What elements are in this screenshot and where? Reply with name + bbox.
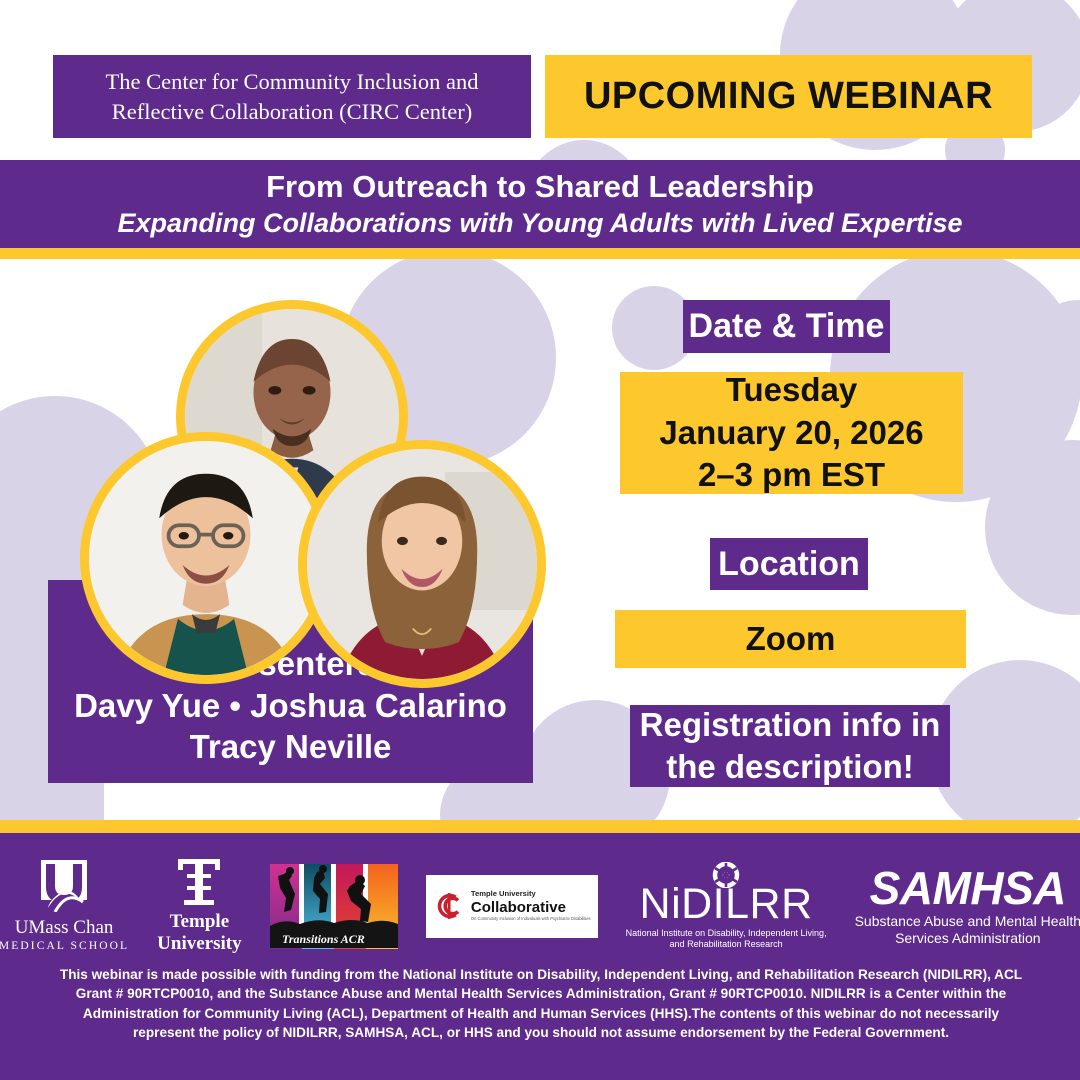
circ-center-name-line1: The Center for Community Inclusion and: [105, 67, 478, 97]
funding-disclaimer: This webinar is made possible with fundi…: [52, 965, 1030, 1042]
webinar-title: From Outreach to Shared Leadership: [266, 169, 814, 205]
temple-collaborative-card: Temple University Collaborative On Commu…: [426, 875, 598, 938]
umass-chan-name: UMass Chan: [15, 917, 114, 939]
nidilrr-wordmark-text: NiDILRR: [640, 884, 813, 925]
samhsa-wordmark: SAMHSA: [870, 865, 1066, 911]
logo-samhsa: SAMHSA Substance Abuse and Mental Health…: [855, 865, 1080, 947]
registration-line1: Registration info in: [640, 704, 941, 746]
temple-collaborative-icon: [433, 886, 465, 926]
upcoming-webinar-label: UPCOMING WEBINAR: [584, 75, 993, 118]
presenters-names-line2: Tracy Neville: [190, 726, 392, 767]
date-full: January 20, 2026: [659, 412, 923, 455]
logo-nidilrr: NiDILRR National Institute on Disability…: [626, 862, 827, 950]
temple-university-icon: [176, 857, 222, 907]
temple-university-line2: University: [157, 933, 241, 955]
footer: UMass Chan MEDICAL SCHOOL Temple Univers…: [0, 833, 1080, 1080]
temple-collaborative-text: Temple University Collaborative On Commu…: [471, 890, 591, 922]
time-range: 2–3 pm EST: [698, 454, 885, 497]
upcoming-webinar-badge: UPCOMING WEBINAR: [545, 55, 1032, 138]
presenters-names-line1: Davy Yue • Joshua Calarino: [74, 685, 507, 726]
logo-transitions-acr: Transitions ACR: [270, 864, 398, 949]
decor-circle-14: [930, 660, 1080, 840]
nidilrr-wordmark: NiDILRR: [640, 884, 813, 925]
webinar-flyer: The Center for Community Inclusion and R…: [0, 0, 1080, 1080]
samhsa-subtitle-line1: Substance Abuse and Mental Health: [855, 913, 1080, 930]
avatar-tracy-neville-image: [307, 449, 537, 679]
avatar-davy-yue-image: [89, 441, 323, 675]
temple-university-line1: Temple: [170, 911, 229, 933]
avatar-davy-yue: [80, 432, 332, 684]
temple-collaborative-line1: Temple University: [471, 890, 591, 898]
circ-center-name-box: The Center for Community Inclusion and R…: [53, 55, 531, 138]
nidilrr-subtitle-line1: National Institute on Disability, Indepe…: [626, 928, 827, 939]
date-day: Tuesday: [726, 369, 857, 412]
date-time-value-box: Tuesday January 20, 2026 2–3 pm EST: [620, 372, 963, 494]
logo-umass-chan: UMass Chan MEDICAL SCHOOL: [0, 860, 129, 952]
funder-logo-row: UMass Chan MEDICAL SCHOOL Temple Univers…: [0, 851, 1080, 961]
nidilrr-subtitle-line2: and Rehabilitation Research: [670, 939, 783, 950]
registration-info-box: Registration info in the description!: [630, 705, 950, 787]
temple-collaborative-line2: Collaborative: [471, 900, 591, 916]
location-value-box: Zoom: [615, 610, 966, 668]
umass-chan-icon: [35, 860, 93, 912]
gold-divider-bottom: [0, 820, 1080, 833]
title-banner: From Outreach to Shared Leadership Expan…: [0, 160, 1080, 248]
registration-line2: the description!: [666, 746, 914, 788]
gold-divider-top: [0, 248, 1080, 259]
temple-collaborative-tagline: On Community Inclusion of Individuals wi…: [471, 917, 591, 922]
circ-center-name-line2: Reflective Collaboration (CIRC Center): [112, 97, 473, 127]
date-time-label: Date & Time: [683, 300, 890, 353]
samhsa-subtitle-line2: Services Administration: [895, 930, 1041, 947]
logo-temple-university: Temple University: [157, 857, 241, 955]
header: The Center for Community Inclusion and R…: [0, 0, 1080, 155]
transitions-acr-icon: Transitions ACR: [270, 864, 398, 949]
webinar-subtitle: Expanding Collaborations with Young Adul…: [117, 207, 962, 239]
location-value-text: Zoom: [746, 618, 836, 661]
logo-temple-collaborative: Temple University Collaborative On Commu…: [426, 875, 598, 938]
svg-text:Transitions ACR: Transitions ACR: [282, 932, 365, 946]
date-time-label-text: Date & Time: [689, 307, 885, 346]
location-label: Location: [710, 538, 868, 590]
location-label-text: Location: [718, 545, 860, 584]
umass-chan-subtitle: MEDICAL SCHOOL: [0, 940, 129, 952]
avatar-tracy-neville: [298, 440, 546, 688]
